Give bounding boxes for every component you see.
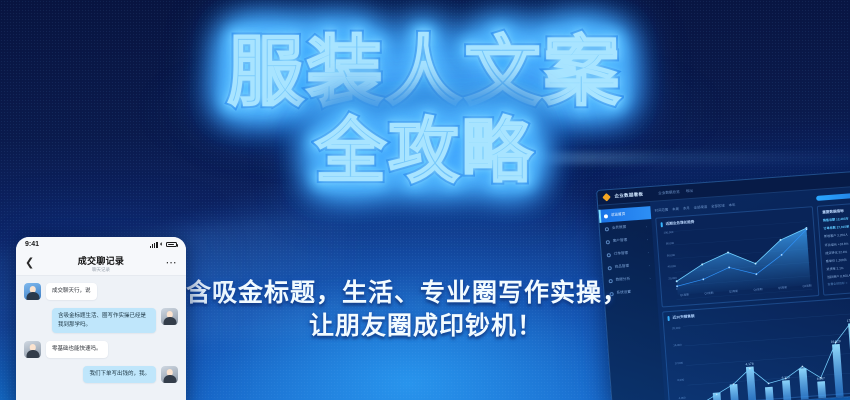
filter-chip[interactable]: 全部区域 (711, 202, 725, 208)
sidebar-item-label: 系统设置 (616, 290, 631, 296)
sidebar-item-label: 商品管理 (615, 264, 630, 270)
light-beam-right (330, 152, 850, 164)
battery-icon (166, 242, 177, 248)
topnav-item[interactable]: 企业数据总览 (658, 189, 680, 196)
cart-icon (607, 253, 611, 257)
y-tick: 20,000 (672, 327, 680, 331)
phone-nav-bar: ❮ 成交聊记录 聊天记录 ⋯ (16, 252, 186, 276)
accent-marker-icon (667, 316, 669, 321)
metrics-list: 销售总额 12,480万 订单总数 27,915单 新增客户 3,204人 环比… (823, 214, 850, 280)
sidebar-item-label: 客户管理 (613, 238, 628, 244)
y-tick: 0 (676, 288, 678, 291)
chat-message: 成交聊天行，说 (24, 283, 178, 300)
sidebar-item-label: 业务数据 (612, 225, 627, 231)
chevron-right-icon: › (649, 276, 650, 280)
pie-icon (609, 279, 613, 283)
panel-title: 重要数据指标 (822, 209, 844, 216)
chat-message: 我们下单写出钱的，我。 (24, 366, 178, 383)
status-time: 9:41 (25, 241, 39, 248)
live-status-pill (816, 191, 850, 201)
x-tick: Q6周期 (802, 283, 812, 293)
sidebar-item-label: 数据分析 (615, 277, 630, 283)
poster-title: 服装人文案 全攻略 (0, 34, 850, 186)
metric-row: 退货率 2.1% (826, 263, 850, 272)
card-title: 近期业务增长趋势 (666, 220, 695, 227)
chat-bubble-text: 我们下单写出钱的，我。 (83, 366, 156, 383)
dashboard-brand: 企业数据看板 (614, 192, 643, 200)
metric-row: 客单价 1,260元 (826, 254, 850, 263)
gear-icon (609, 291, 613, 295)
topnav-item[interactable]: 导出 (686, 188, 694, 194)
y-tick: 40,000 (668, 265, 676, 269)
diamond-logo-icon (602, 193, 610, 201)
x-tick: Q4周期 (753, 287, 763, 297)
metrics-panel: 重要数据指标 销售总额 12,480万 订单总数 27,915单 新增客户 3,… (817, 201, 850, 295)
card-title: 近30天销售额 (672, 314, 694, 321)
chart-icon (605, 227, 609, 231)
filter-chip[interactable]: 全部渠道 (693, 203, 707, 209)
chevron-right-icon: › (648, 263, 649, 267)
y-tick: 12,000 (675, 361, 683, 365)
sidebar-item-settings[interactable]: 系统设置 (604, 284, 657, 301)
chat-bubble-text: 成交聊天行，说 (46, 283, 97, 300)
phone-status-bar: 9:41 ◐ (16, 237, 186, 252)
signal-bars-icon (150, 242, 158, 248)
title-line-1: 服装人文案 (0, 34, 850, 110)
chat-bubble-text: 零基础也能快速吗。 (46, 341, 108, 358)
svg-text:4,178: 4,178 (745, 362, 754, 367)
chevron-right-icon: › (648, 250, 649, 254)
filter-chip[interactable]: 时间范围 (654, 206, 668, 212)
grid-icon (604, 214, 608, 218)
seller-avatar (161, 308, 178, 325)
filter-chip[interactable]: 本月 (683, 205, 690, 210)
chat-subtitle: 聊天记录 (16, 267, 186, 273)
accent-marker-icon (661, 222, 663, 227)
x-tick: Q3周期 (729, 289, 739, 299)
wifi-icon: ◐ (160, 241, 164, 248)
status-icons: ◐ (150, 241, 177, 248)
metric-row: 新增客户 3,204人 (824, 230, 850, 239)
customer-avatar (24, 341, 41, 358)
phone-title-block: 成交聊记录 聊天记录 (16, 254, 186, 274)
filter-chip[interactable]: 本年 (728, 201, 735, 206)
x-tick: Q1周期 (680, 292, 690, 302)
box-icon (608, 266, 612, 270)
metric-row: 成交转化 32.4% (825, 246, 850, 255)
y-tick: 8,000 (677, 379, 684, 382)
subtitle-line-2: 让朋友圈成印钞机！ (186, 309, 606, 342)
y-tick: 60,000 (667, 254, 675, 258)
sidebar-item-label: 订单管理 (614, 251, 629, 257)
seller-avatar (161, 366, 178, 383)
chevron-right-icon: › (647, 237, 648, 241)
y-tick: 100,000 (664, 231, 674, 235)
bar-chart-card: 近30天销售额 20,000 16,000 12,000 8,000 4,000… (662, 295, 850, 400)
metric-row: 订单总数 27,915单 (823, 222, 850, 231)
chat-bubble-text: 含吸金标题生活、圈写作实操已经是我到那学吗。 (52, 308, 156, 333)
chevron-right-icon: › (646, 224, 647, 228)
y-tick: 16,000 (673, 344, 681, 348)
y-tick: 4,000 (679, 396, 686, 399)
chat-message-list[interactable]: 成交聊天行，说 含吸金标题生活、圈写作实操已经是我到那学吗。 零基础也能快速吗。… (16, 276, 186, 400)
title-backglow (150, 40, 710, 180)
line-chart-plot: 100,000 80,000 60,000 40,000 20,000 0 Q1… (661, 219, 814, 304)
svg-text:17,930: 17,930 (847, 318, 850, 323)
x-tick: Q2周期 (704, 291, 714, 301)
line-chart-card: 近期业务增长趋势 100,000 80,000 60,000 40,000 20… (655, 206, 819, 307)
metric-row: 活跃用户 8,650人 (827, 271, 850, 280)
dashboard-mockup: 企业数据看板 企业数据总览 导出 总览首页 业务数据 › 客户管理 (596, 169, 850, 400)
bar-chart-plot: 20,000 16,000 12,000 8,000 4,000 0 4,178… (668, 307, 850, 400)
title-line-2: 全攻略 (0, 116, 850, 186)
customer-avatar (24, 283, 41, 300)
dashboard-body: 总览首页 业务数据 › 客户管理 › 订单管理 › (598, 185, 850, 400)
chat-title: 成交聊记录 (16, 254, 186, 267)
chat-message: 零基础也能快速吗。 (24, 341, 178, 358)
sidebar-item-label: 总览首页 (611, 212, 626, 218)
phone-mockup: 9:41 ◐ ❮ 成交聊记录 聊天记录 ⋯ 成交聊天行，说 含吸金标题生活、圈写… (16, 237, 186, 400)
view-all-metrics-link[interactable]: 查看全部指标 > (827, 279, 850, 287)
poster-canvas: 服装人文案 全攻略 含吸金标题，生活、专业圈写作实操， 让朋友圈成印钞机！ 9:… (0, 0, 850, 400)
x-tick: Q5周期 (778, 285, 788, 295)
dashboard-row-top: 近期业务增长趋势 100,000 80,000 60,000 40,000 20… (655, 201, 850, 307)
subtitle-line-1: 含吸金标题，生活、专业圈写作实操， (186, 276, 606, 309)
metric-row: 环比增长 +18.6% (824, 238, 850, 247)
y-tick: 20,000 (668, 277, 676, 281)
dashboard-content: 时间范围 本周 本月 全部渠道 全部区域 本年 近期业务增长趋势 (650, 185, 850, 400)
dashboard-topnav[interactable]: 企业数据总览 导出 (658, 188, 693, 196)
users-icon (606, 240, 610, 244)
filter-chip[interactable]: 本周 (672, 205, 679, 210)
poster-subtitle: 含吸金标题，生活、专业圈写作实操， 让朋友圈成印钞机！ (186, 276, 606, 342)
bar-chart-svg: 4,1786,3208,06716,82017,930 (668, 307, 850, 400)
more-dots-icon[interactable]: ⋯ (166, 258, 178, 269)
chat-message: 含吸金标题生活、圈写作实操已经是我到那学吗。 (24, 308, 178, 333)
y-tick: 80,000 (666, 242, 674, 246)
card-header: 重要数据指标 (822, 207, 850, 216)
